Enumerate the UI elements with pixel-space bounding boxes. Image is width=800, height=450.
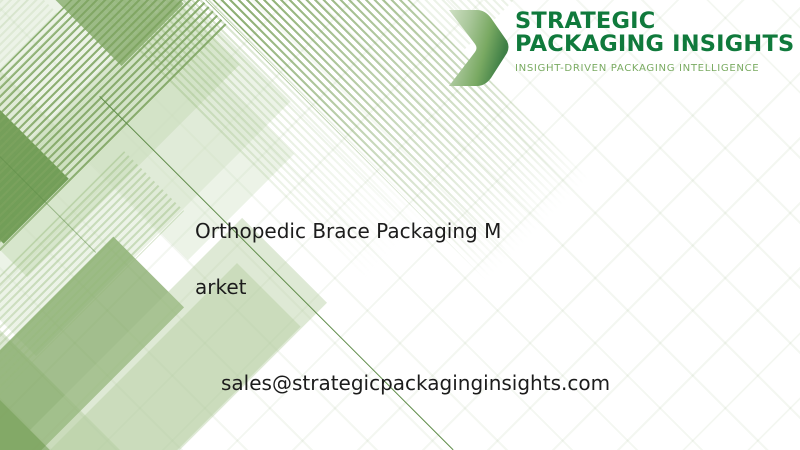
contact-email: sales@strategicpackaginginsights.com [221,371,610,395]
report-title-line-1: Orthopedic Brace Packaging M [195,219,501,243]
report-title-line-2: arket [195,275,247,299]
report-cover-slide: STRATEGIC PACKAGING INSIGHTS INSIGHT-DRI… [0,0,800,450]
cover-content: Orthopedic Brace Packaging M arket sales… [0,0,800,450]
